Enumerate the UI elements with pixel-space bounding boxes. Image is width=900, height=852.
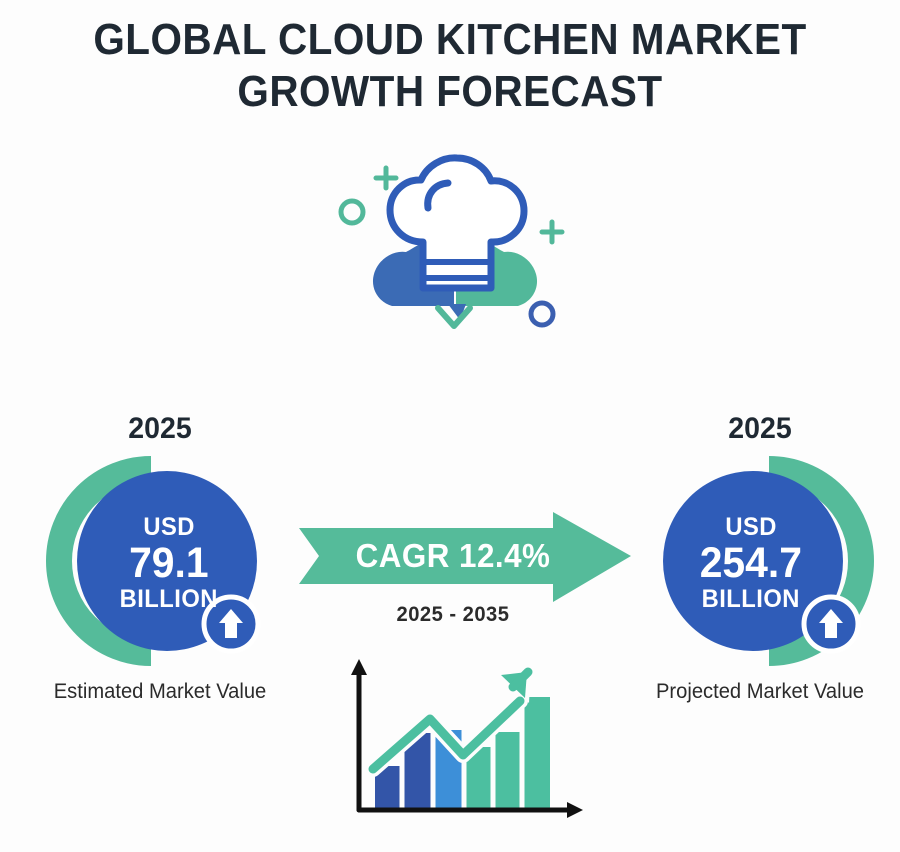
donut-estimated: USD 79.1 BILLION xyxy=(45,456,275,671)
plus-teal-right-icon xyxy=(542,222,562,242)
growth-bar-chart xyxy=(335,645,595,825)
page-title-line-2: GROWTH FORECAST xyxy=(36,66,864,118)
cagr-banner: CAGR 12.4% 2025 - 2035 xyxy=(295,510,635,627)
infographic-canvas: GLOBAL CLOUD KITCHEN MARKET GROWTH FOREC… xyxy=(0,0,900,852)
cloud-kitchen-icon xyxy=(330,150,580,350)
bar-5 xyxy=(495,732,520,809)
page-title-line-1: GLOBAL CLOUD KITCHEN MARKET xyxy=(36,14,864,66)
x-axis-arrowhead xyxy=(567,802,583,818)
cagr-arrow-shape: CAGR 12.4% xyxy=(295,510,635,605)
donut-projected: USD 254.7 BILLION xyxy=(645,456,875,671)
plus-teal-top-left-icon xyxy=(376,168,396,188)
y-axis-arrowhead xyxy=(351,659,367,675)
bar-6 xyxy=(524,697,550,809)
metric-projected: 2025 USD 254.7 BILLION Projected Market … xyxy=(610,412,900,704)
arrow-up-badge-projected xyxy=(804,597,858,651)
arrow-right-shape-icon xyxy=(299,512,631,602)
metric-estimated: 2025 USD 79.1 BILLION Estimated Market V… xyxy=(10,412,310,704)
page-title: GLOBAL CLOUD KITCHEN MARKET GROWTH FOREC… xyxy=(0,14,900,118)
metric-caption-projected: Projected Market Value xyxy=(616,679,900,704)
arrow-up-badge-estimated xyxy=(204,597,258,651)
ring-blue-bottom-right-icon xyxy=(531,303,553,325)
metric-year-estimated: 2025 xyxy=(18,412,303,446)
cagr-range: 2025 - 2035 xyxy=(301,603,604,627)
metric-caption-estimated: Estimated Market Value xyxy=(16,679,304,704)
ring-teal-left-icon xyxy=(341,201,363,223)
metric-year-projected: 2025 xyxy=(618,412,900,446)
